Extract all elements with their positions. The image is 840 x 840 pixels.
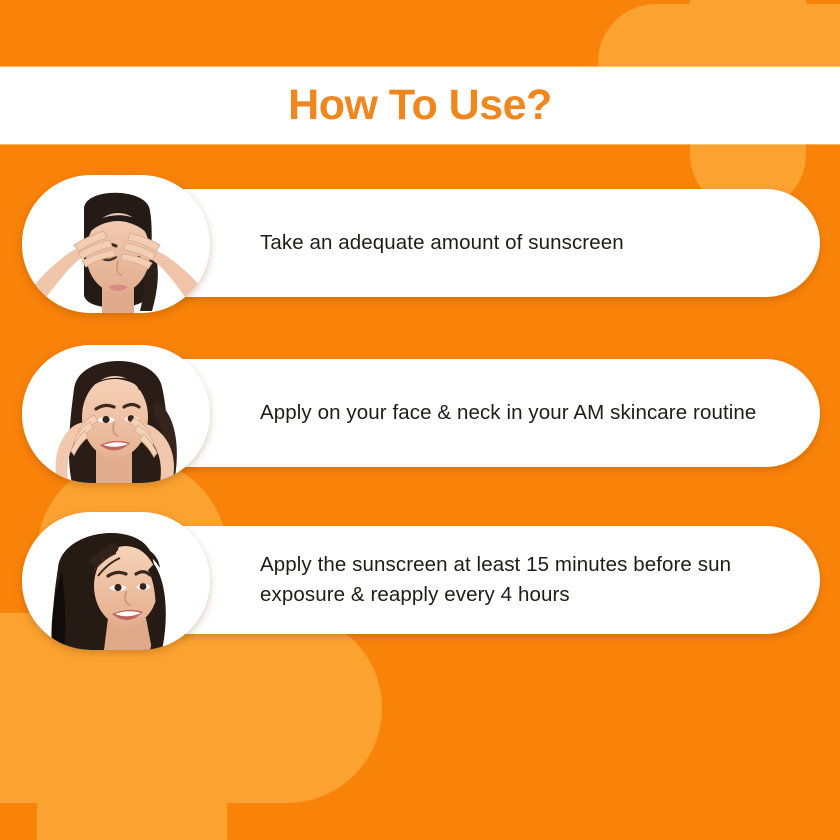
step-item: Apply on your face & neck in your AM ski… xyxy=(0,345,840,485)
woman-cheeks-photo xyxy=(22,345,210,483)
step-image-card: Smiling woman with braided hair looking … xyxy=(22,512,210,650)
step-text: Take an adequate amount of sunscreen xyxy=(260,228,624,258)
step-image-card: Woman applying sunscreen to her forehead… xyxy=(22,175,210,313)
how-to-use-infographic: How To Use? Take an adequate amount of s… xyxy=(0,0,840,840)
step-text-pill: Apply on your face & neck in your AM ski… xyxy=(112,359,820,467)
step-item: Apply the sunscreen at least 15 minutes … xyxy=(0,512,840,652)
step-text: Apply on your face & neck in your AM ski… xyxy=(260,398,756,428)
step-image-card: Smiling woman applying sunscreen to her … xyxy=(22,345,210,483)
step-text-pill: Take an adequate amount of sunscreen xyxy=(112,189,820,297)
header-banner: How To Use? xyxy=(0,67,840,144)
step-image-alt: Smiling woman applying sunscreen to her … xyxy=(22,345,23,346)
step-image-alt: Smiling woman with braided hair looking … xyxy=(22,512,23,513)
step-image-alt: Woman applying sunscreen to her forehead… xyxy=(22,175,23,176)
step-text: Apply the sunscreen at least 15 minutes … xyxy=(260,550,780,609)
step-text-pill: Apply the sunscreen at least 15 minutes … xyxy=(112,526,820,634)
woman-braid-photo xyxy=(22,512,210,650)
woman-forehead-photo xyxy=(22,175,210,313)
page-title: How To Use? xyxy=(288,84,552,127)
step-item: Take an adequate amount of sunscreen Wom… xyxy=(0,175,840,315)
